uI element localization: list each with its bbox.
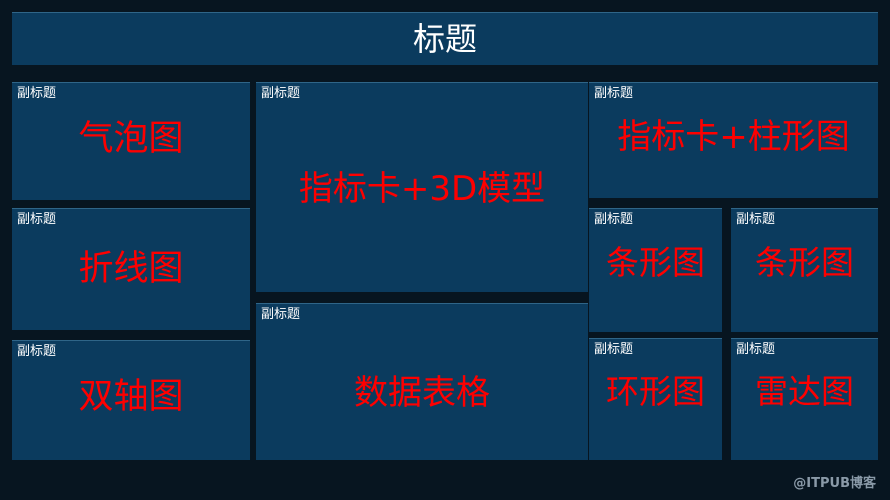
card-bubble-chart[interactable]: 副标题 气泡图 [12, 82, 250, 200]
card-line-chart[interactable]: 副标题 折线图 [12, 208, 250, 330]
card-placeholder-label: 环形图 [589, 371, 722, 412]
dashboard-title-bar: 标题 [12, 12, 878, 65]
card-radar-chart[interactable]: 副标题 雷达图 [731, 338, 878, 460]
card-placeholder-label: 雷达图 [731, 371, 878, 412]
card-placeholder-label: 指标卡+柱形图 [589, 116, 878, 158]
card-horizontal-bar-chart-1[interactable]: 副标题 条形图 [589, 208, 722, 332]
card-placeholder-label: 数据表格 [256, 372, 588, 414]
card-dual-axis-chart[interactable]: 副标题 双轴图 [12, 340, 250, 460]
card-subtitle: 副标题 [736, 341, 775, 358]
card-data-table[interactable]: 副标题 数据表格 [256, 303, 588, 460]
card-subtitle: 副标题 [261, 306, 300, 323]
card-subtitle: 副标题 [17, 85, 56, 102]
page-title: 标题 [12, 19, 878, 59]
card-placeholder-label: 双轴图 [12, 375, 250, 419]
card-subtitle: 副标题 [594, 211, 633, 228]
card-horizontal-bar-chart-2[interactable]: 副标题 条形图 [731, 208, 878, 332]
card-subtitle: 副标题 [736, 211, 775, 228]
dashboard-canvas: 标题 副标题 气泡图 副标题 折线图 副标题 双轴图 副标题 指标卡+3D模型 … [0, 0, 890, 500]
card-placeholder-label: 指标卡+3D模型 [256, 168, 588, 210]
card-kpi-bar-chart[interactable]: 副标题 指标卡+柱形图 [589, 82, 878, 198]
card-subtitle: 副标题 [17, 343, 56, 360]
card-subtitle: 副标题 [594, 85, 633, 102]
card-subtitle: 副标题 [17, 211, 56, 228]
card-placeholder-label: 折线图 [12, 247, 250, 291]
card-placeholder-label: 条形图 [589, 242, 722, 283]
card-kpi-3d-model[interactable]: 副标题 指标卡+3D模型 [256, 82, 588, 292]
card-placeholder-label: 气泡图 [12, 117, 250, 161]
card-subtitle: 副标题 [594, 341, 633, 358]
card-placeholder-label: 条形图 [731, 242, 878, 283]
watermark: @ITPUB博客 [793, 476, 876, 492]
card-donut-chart[interactable]: 副标题 环形图 [589, 338, 722, 460]
card-subtitle: 副标题 [261, 85, 300, 102]
